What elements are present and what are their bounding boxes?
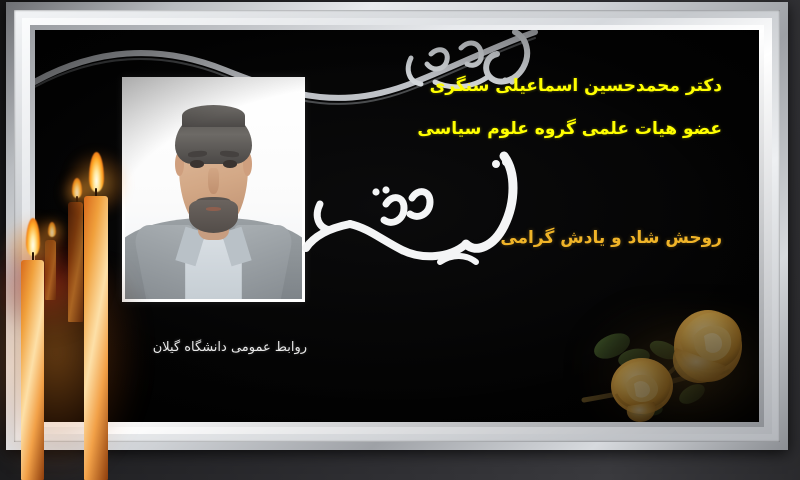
- yellow-roses-decoration: [580, 302, 759, 422]
- candle-1-body: [21, 260, 44, 480]
- candle-3-body: [68, 202, 83, 322]
- deceased-title: عضو هیات علمی گروه علوم سیاسی: [417, 119, 722, 139]
- candle-2-body: [84, 196, 108, 480]
- tribute-text: روحش شاد و یادش گرامی: [500, 228, 722, 248]
- portrait-photo: [122, 77, 305, 302]
- candles-decoration: [0, 198, 128, 480]
- deceased-name: دکتر محمدحسین اسماعیلی سنگری: [430, 76, 722, 96]
- signature-text: روابط عمومی دانشگاه گیلان: [153, 340, 307, 355]
- memorial-poster: دکتر محمدحسین اسماعیلی سنگری عضو هیات عل…: [0, 0, 800, 480]
